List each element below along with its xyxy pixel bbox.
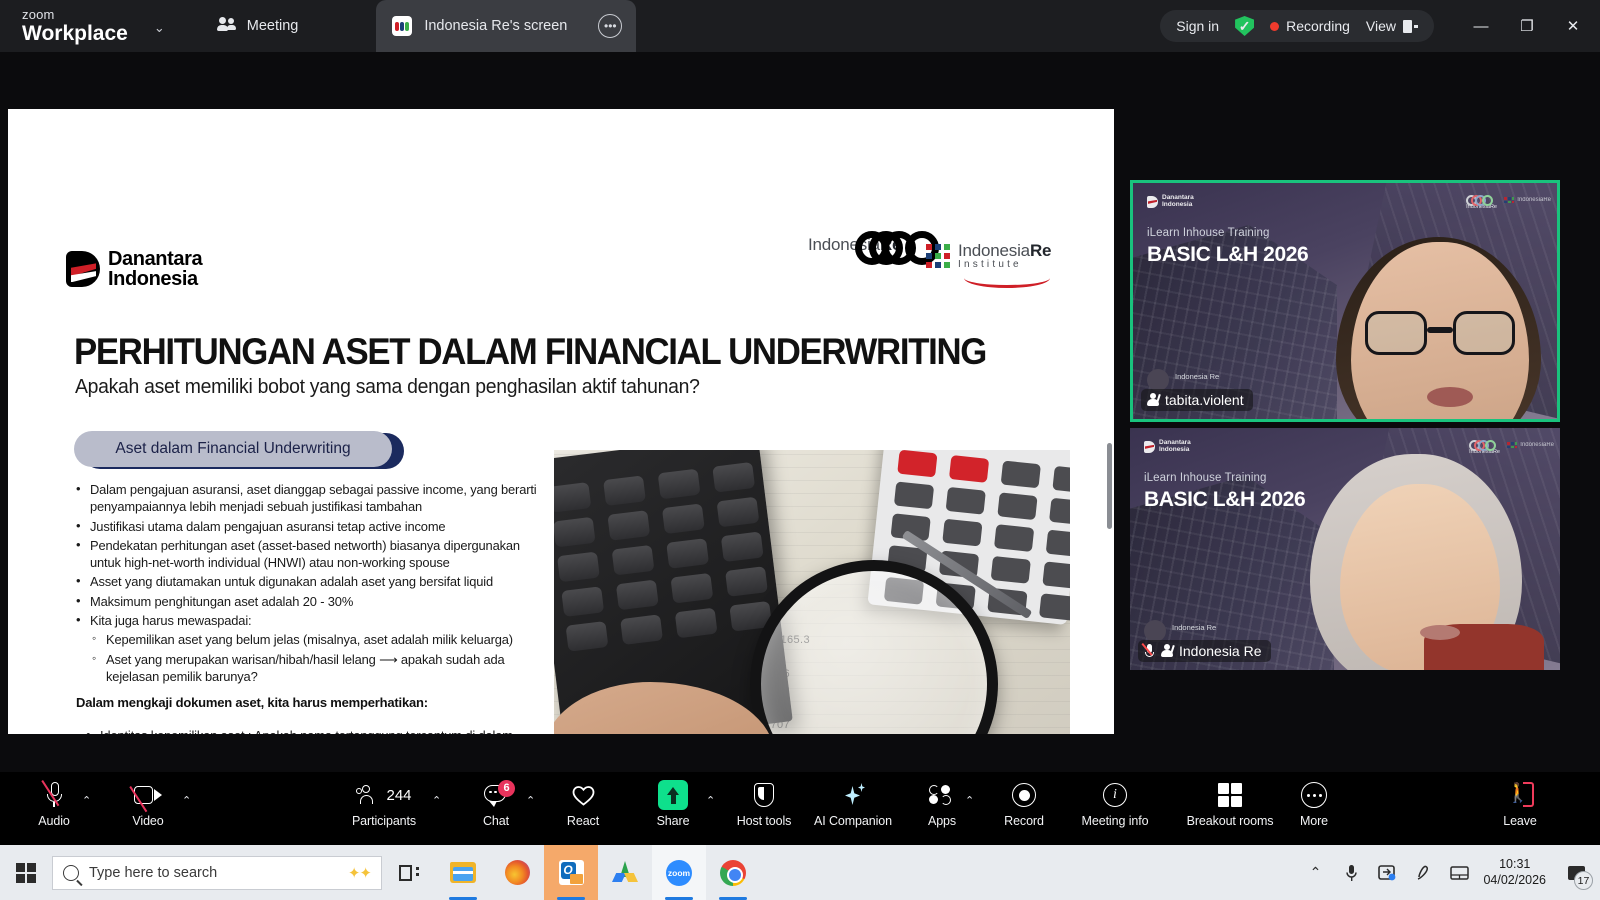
indonesiare-institute-logo: IndonesiaRe Institute — [926, 242, 1051, 270]
sign-in-button[interactable]: Sign in — [1176, 18, 1219, 34]
toolbar-apps-label: Apps — [928, 814, 956, 828]
slide-sub-bullet-list: Kepemilikan aset yang belum jelas (misal… — [92, 631, 546, 685]
heart-icon — [572, 778, 595, 812]
firefox-icon[interactable] — [490, 845, 544, 900]
task-view-icon[interactable] — [382, 845, 436, 900]
view-label: View — [1366, 18, 1396, 34]
tab-meeting-label: Meeting — [247, 18, 299, 34]
recording-label: Recording — [1286, 18, 1350, 34]
brand-workplace-text: Workplace — [22, 23, 128, 44]
audio-options-chevron-icon[interactable]: ⌃ — [82, 794, 91, 807]
zoom-icon[interactable]: zoom — [652, 845, 706, 900]
chrome-icon[interactable] — [706, 845, 760, 900]
video-overlay-indonesiare-logo: IndonesiaRe — [1469, 440, 1500, 458]
sparkle-icon — [841, 778, 865, 812]
microphone-muted-icon — [46, 778, 63, 812]
list-item: Pendekatan perhitungan aset (asset-based… — [76, 537, 546, 572]
toolbar-share-label: Share — [657, 814, 690, 828]
microphone-tray-icon[interactable] — [1333, 845, 1369, 900]
status-pill: Sign in ✓ Recording View — [1160, 10, 1434, 42]
shared-screen-stage: Danantara Indonesia IndonesiaRe Indonesi… — [0, 52, 1120, 772]
toolbar-react-button[interactable]: React — [535, 778, 631, 828]
institute-dots-icon — [926, 244, 950, 268]
search-input[interactable]: Type here to search ✦✦ — [52, 856, 382, 890]
search-icon — [63, 865, 79, 881]
toolbar-host-tools-label: Host tools — [737, 814, 792, 828]
copilot-sparkle-icon[interactable]: ✦✦ — [348, 864, 371, 882]
record-icon — [1012, 778, 1036, 812]
view-button[interactable]: View — [1366, 18, 1418, 34]
tab-meeting[interactable]: Meeting — [199, 0, 317, 52]
encryption-shield-icon[interactable]: ✓ — [1235, 16, 1254, 36]
participant-1-lips — [1427, 387, 1473, 407]
avatar-org-label: Indonesia Re — [1175, 372, 1219, 381]
video-overlay-institute-logo: IndonesiaRe — [1504, 197, 1551, 203]
meeting-toolbar: Audio ⌃ Video ⌃ 244 Participants ⌃ 6 — [0, 772, 1600, 845]
system-tray: ⌃ 10:31 04/02/2026 17 — [1297, 845, 1600, 900]
indonesiare-logo: IndonesiaRe — [808, 231, 901, 255]
more-icon — [1301, 778, 1327, 812]
slide-section-heading: Dalam mengkaji dokumen aset, kita harus … — [76, 695, 428, 710]
video-overlay-title: BASIC L&H 2026 — [1147, 243, 1308, 267]
avatar — [1144, 620, 1166, 642]
participants-icon: 244 — [356, 778, 411, 812]
touchpad-tray-icon[interactable] — [1441, 845, 1477, 900]
toolbar-host-tools-button[interactable]: Host tools — [716, 778, 812, 828]
video-options-chevron-icon[interactable]: ⌃ — [182, 794, 191, 807]
video-tile-participant[interactable]: Danantara Indonesia IndonesiaRe Indonesi… — [1130, 428, 1560, 670]
slide-section-pill: Aset dalam Financial Underwriting — [74, 431, 404, 469]
toolbar-react-label: React — [567, 814, 599, 828]
toolbar-record-button[interactable]: Record — [976, 778, 1072, 828]
video-overlay-indonesiare-logo: IndonesiaRe — [1466, 195, 1497, 213]
video-overlay-subtitle: iLearn Inhouse Training — [1147, 227, 1270, 239]
brand-zoom-text: zoom — [22, 8, 128, 21]
microphone-muted-icon — [1144, 644, 1155, 659]
toolbar-more-button[interactable]: More — [1266, 778, 1362, 828]
slide-scrollbar[interactable] — [1107, 443, 1112, 529]
taskbar-clock[interactable]: 10:31 04/02/2026 — [1477, 857, 1556, 888]
zoom-workplace-brand: zoom Workplace — [22, 8, 128, 44]
toolbar-chat-label: Chat — [483, 814, 509, 828]
clock-date: 04/02/2026 — [1483, 873, 1546, 889]
share-screen-icon — [658, 778, 688, 812]
toolbar-audio-label: Audio — [38, 814, 69, 828]
notification-center-button[interactable]: 17 — [1556, 845, 1596, 900]
participant-name-badge: tabita.violent — [1141, 389, 1253, 411]
outlook-icon[interactable]: O — [544, 845, 598, 900]
list-item: Kita juga harus mewaspadai: — [76, 612, 546, 629]
list-item: Aset yang merupakan warisan/hibah/hasil … — [92, 651, 546, 686]
list-item: Asset yang diutamakan untuk digunakan ad… — [76, 573, 546, 590]
recording-dot-icon — [1270, 22, 1279, 31]
toolbar-participants-button[interactable]: 244 Participants — [336, 778, 432, 828]
google-drive-icon[interactable] — [598, 845, 652, 900]
list-item: Identitas kepemilikan aset : Apakah nama… — [86, 727, 526, 734]
list-item: Maksimum penghitungan aset adalah 20 - 3… — [76, 593, 546, 610]
slide-bullet-list: Dalam pengajuan asuransi, aset dianggap … — [76, 481, 546, 687]
slide-subtitle: Apakah aset memiliki bobot yang sama den… — [75, 376, 948, 399]
chat-icon: 6 — [484, 778, 508, 812]
zoom-meeting-window: zoom Workplace ⌄ Meeting Indonesia Re's … — [0, 0, 1600, 900]
search-placeholder: Type here to search — [89, 865, 217, 881]
toolbar-breakout-rooms-label: Breakout rooms — [1187, 814, 1274, 828]
recording-status[interactable]: Recording — [1270, 18, 1350, 34]
notification-count: 17 — [1574, 871, 1593, 890]
windows-taskbar: Type here to search ✦✦ O zoom ⌃ — [0, 845, 1600, 900]
presentation-slide: Danantara Indonesia IndonesiaRe Indonesi… — [8, 109, 1114, 734]
pin-icon — [1161, 644, 1173, 658]
file-explorer-icon[interactable] — [436, 845, 490, 900]
toolbar-leave-label: Leave — [1503, 814, 1537, 828]
danantara-logo: Danantara Indonesia — [66, 249, 202, 290]
zoom-share-app-icon — [392, 16, 412, 36]
title-bar: zoom Workplace ⌄ Meeting Indonesia Re's … — [0, 0, 1600, 52]
slide-section-pill-label: Aset dalam Financial Underwriting — [74, 431, 392, 467]
close-button[interactable]: ✕ — [1550, 0, 1596, 52]
participant-2-lips — [1420, 625, 1460, 640]
breakout-rooms-icon — [1218, 778, 1242, 812]
participant-name: Indonesia Re — [1179, 643, 1262, 659]
pin-icon — [1147, 393, 1159, 407]
apps-options-chevron-icon[interactable]: ⌃ — [965, 794, 974, 807]
toolbar-more-label: More — [1300, 814, 1328, 828]
toolbar-participants-label: Participants — [352, 814, 416, 828]
window-right-controls: Sign in ✓ Recording View — ❐ ✕ — [1160, 0, 1600, 52]
tab-shared-screen-label: Indonesia Re's screen — [424, 18, 567, 34]
avatar-org-label: Indonesia Re — [1172, 623, 1216, 632]
video-tile-active-speaker[interactable]: Danantara Indonesia IndonesiaRe Indonesi… — [1130, 180, 1560, 422]
slide-bullet-list-secondary: Identitas kepemilikan aset : Apakah nama… — [86, 727, 526, 734]
participant-name-badge: Indonesia Re — [1138, 640, 1271, 662]
participant-name: tabita.violent — [1165, 392, 1244, 408]
meeting-people-icon — [217, 17, 237, 35]
tab-shared-screen[interactable]: Indonesia Re's screen ••• — [376, 0, 636, 52]
chevron-down-icon[interactable]: ⌄ — [154, 20, 165, 36]
leave-icon: 🚶 — [1506, 778, 1534, 812]
toolbar-ai-companion-label: AI Companion — [814, 814, 892, 828]
toolbar-video-label: Video — [132, 814, 163, 828]
video-overlay-subtitle: iLearn Inhouse Training — [1144, 472, 1267, 484]
share-options-chevron-icon[interactable]: ⌃ — [706, 794, 715, 807]
toolbar-meeting-info-label: Meeting info — [1082, 814, 1149, 828]
show-hidden-icons-chevron-icon[interactable]: ⌃ — [1297, 845, 1333, 900]
toolbar-ai-companion-button[interactable]: AI Companion — [805, 778, 901, 828]
institute-wordmark: IndonesiaRe Institute — [958, 242, 1051, 270]
toolbar-meeting-info-button[interactable]: i Meeting info — [1067, 778, 1163, 828]
slide-title: PERHITUNGAN ASET DALAM FINANCIAL UNDERWR… — [74, 331, 995, 373]
video-thumbnail-pane: Danantara Indonesia IndonesiaRe Indonesi… — [1120, 52, 1600, 772]
institute-swoosh-icon — [964, 276, 1050, 288]
video-overlay-institute-logo: IndonesiaRe — [1507, 442, 1554, 448]
info-icon: i — [1103, 778, 1127, 812]
chat-unread-badge: 6 — [498, 780, 515, 797]
participant-1-glasses — [1365, 311, 1515, 357]
toolbar-record-label: Record — [1004, 814, 1044, 828]
pen-tray-icon[interactable] — [1405, 845, 1441, 900]
tab-more-options-icon[interactable]: ••• — [598, 14, 622, 38]
list-item: Dalam pengajuan asuransi, aset dianggap … — [76, 481, 546, 516]
video-overlay-danantara-logo: Danantara Indonesia — [1144, 440, 1191, 454]
camera-muted-icon — [134, 778, 162, 812]
participants-options-chevron-icon[interactable]: ⌃ — [432, 794, 441, 807]
clock-time: 10:31 — [1483, 857, 1546, 873]
start-button[interactable] — [0, 845, 52, 900]
apps-icon — [929, 778, 955, 812]
list-item: Kepemilikan aset yang belum jelas (misal… — [92, 631, 546, 648]
danantara-wordmark: Danantara Indonesia — [108, 249, 202, 290]
avatar — [1147, 369, 1169, 391]
chat-options-chevron-icon[interactable]: ⌃ — [526, 794, 535, 807]
participants-count: 244 — [386, 787, 411, 804]
shield-icon — [754, 778, 774, 812]
list-item: Justifikasi utama dalam pengajuan asuran… — [76, 518, 546, 535]
video-overlay-danantara-logo: Danantara Indonesia — [1147, 195, 1194, 209]
maximize-restore-button[interactable]: ❐ — [1504, 0, 1550, 52]
layout-view-icon — [1403, 20, 1418, 33]
danantara-mark-icon — [66, 251, 100, 287]
toolbar-leave-button[interactable]: 🚶 Leave — [1472, 778, 1568, 828]
screen-share-tray-icon[interactable] — [1369, 845, 1405, 900]
minimize-button[interactable]: — — [1458, 0, 1504, 52]
slide-photo-calculator-documents: 67.70 13.36 -3.05 131.19 13.40 -2.47 17.… — [554, 450, 1070, 734]
windows-logo-icon — [16, 863, 36, 883]
video-overlay-title: BASIC L&H 2026 — [1144, 488, 1305, 512]
